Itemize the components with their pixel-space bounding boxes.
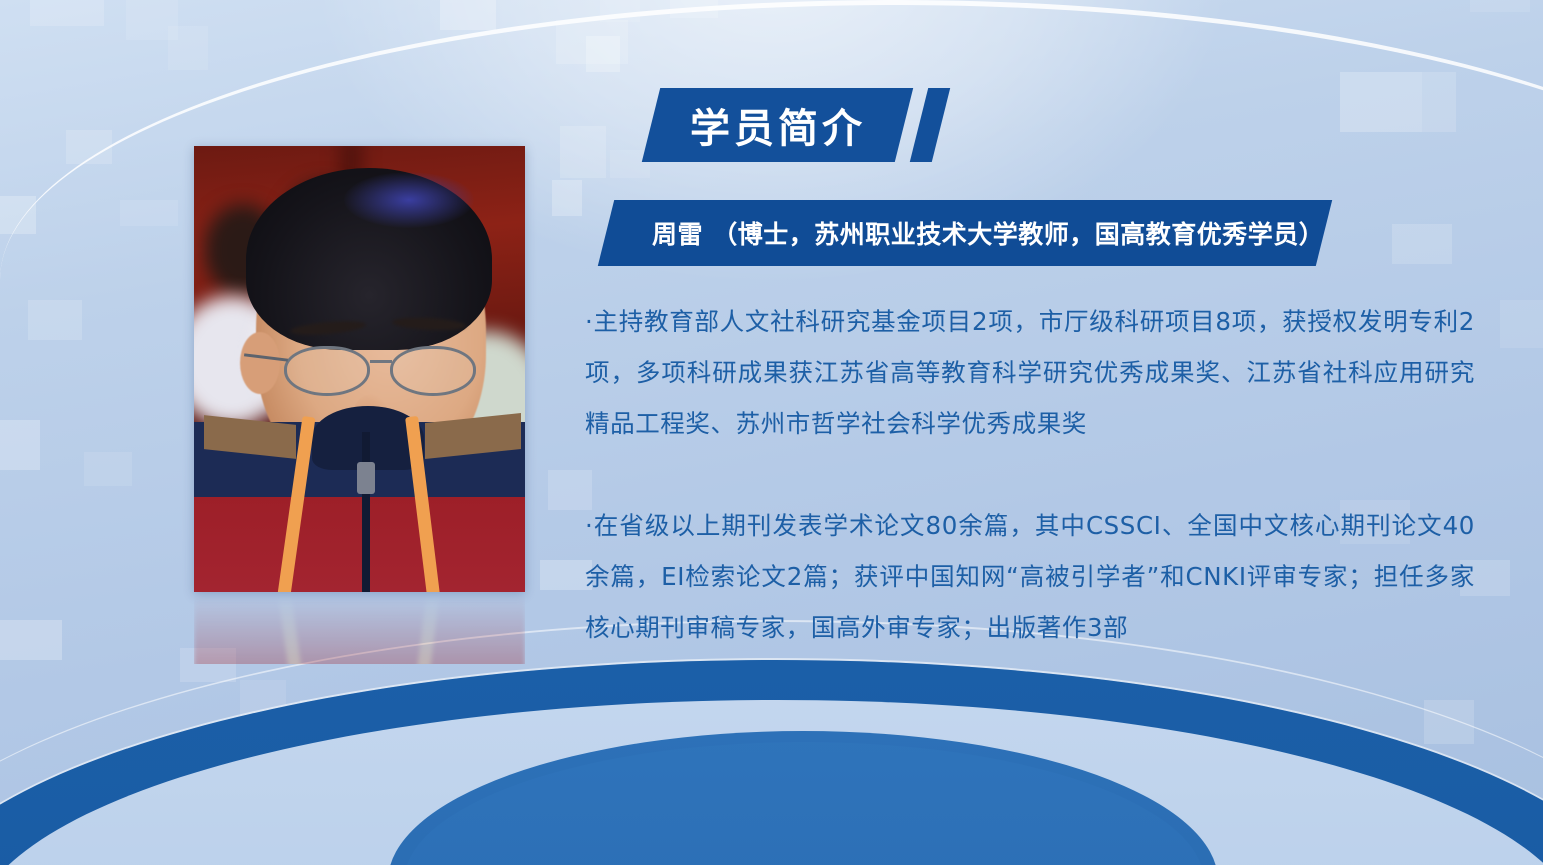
biography-paragraph: ·在省级以上期刊发表学术论文80余篇，其中CSSCI、全国中文核心期刊论文40余… [585, 500, 1475, 653]
reflection-lanyard-right [406, 594, 440, 664]
portrait-glasses [278, 342, 493, 400]
biography-block: ·主持教育部人文社科研究基金项目2项，市厅级科研项目8项，获授权发明专利2项，多… [585, 296, 1475, 653]
portrait-photo [194, 146, 525, 592]
portrait-ear [240, 332, 280, 394]
biography-paragraph: ·主持教育部人文社科研究基金项目2项，市厅级科研项目8项，获授权发明专利2项，多… [585, 296, 1475, 449]
portrait-photo-frame [194, 146, 525, 592]
sweater-zipper-pull [357, 462, 375, 494]
reflection-lanyard-left [278, 594, 315, 664]
glasses-lens-left [284, 346, 370, 396]
portrait-reflection-body [194, 594, 525, 664]
sweater-shoulder-left [204, 415, 296, 459]
portrait-photo-reflection [194, 594, 525, 664]
portrait-hair-highlight [344, 172, 474, 228]
slide-canvas: 学员简介 周雷 （博士，苏州职业技术大学教师，国高教育优秀学员） ·主持教育部人… [0, 0, 1543, 865]
page-title: 学员简介 [690, 96, 866, 154]
portrait-sweater [194, 422, 525, 592]
section-title-banner: 学员简介 [642, 88, 913, 162]
student-name-label: 周雷 （博士，苏州职业技术大学教师，国高教育优秀学员） [606, 215, 1324, 251]
glasses-lens-right [390, 346, 476, 396]
glasses-bridge [370, 360, 392, 363]
student-name-banner: 周雷 （博士，苏州职业技术大学教师，国高教育优秀学员） [598, 200, 1332, 266]
sweater-zipper [362, 432, 370, 592]
